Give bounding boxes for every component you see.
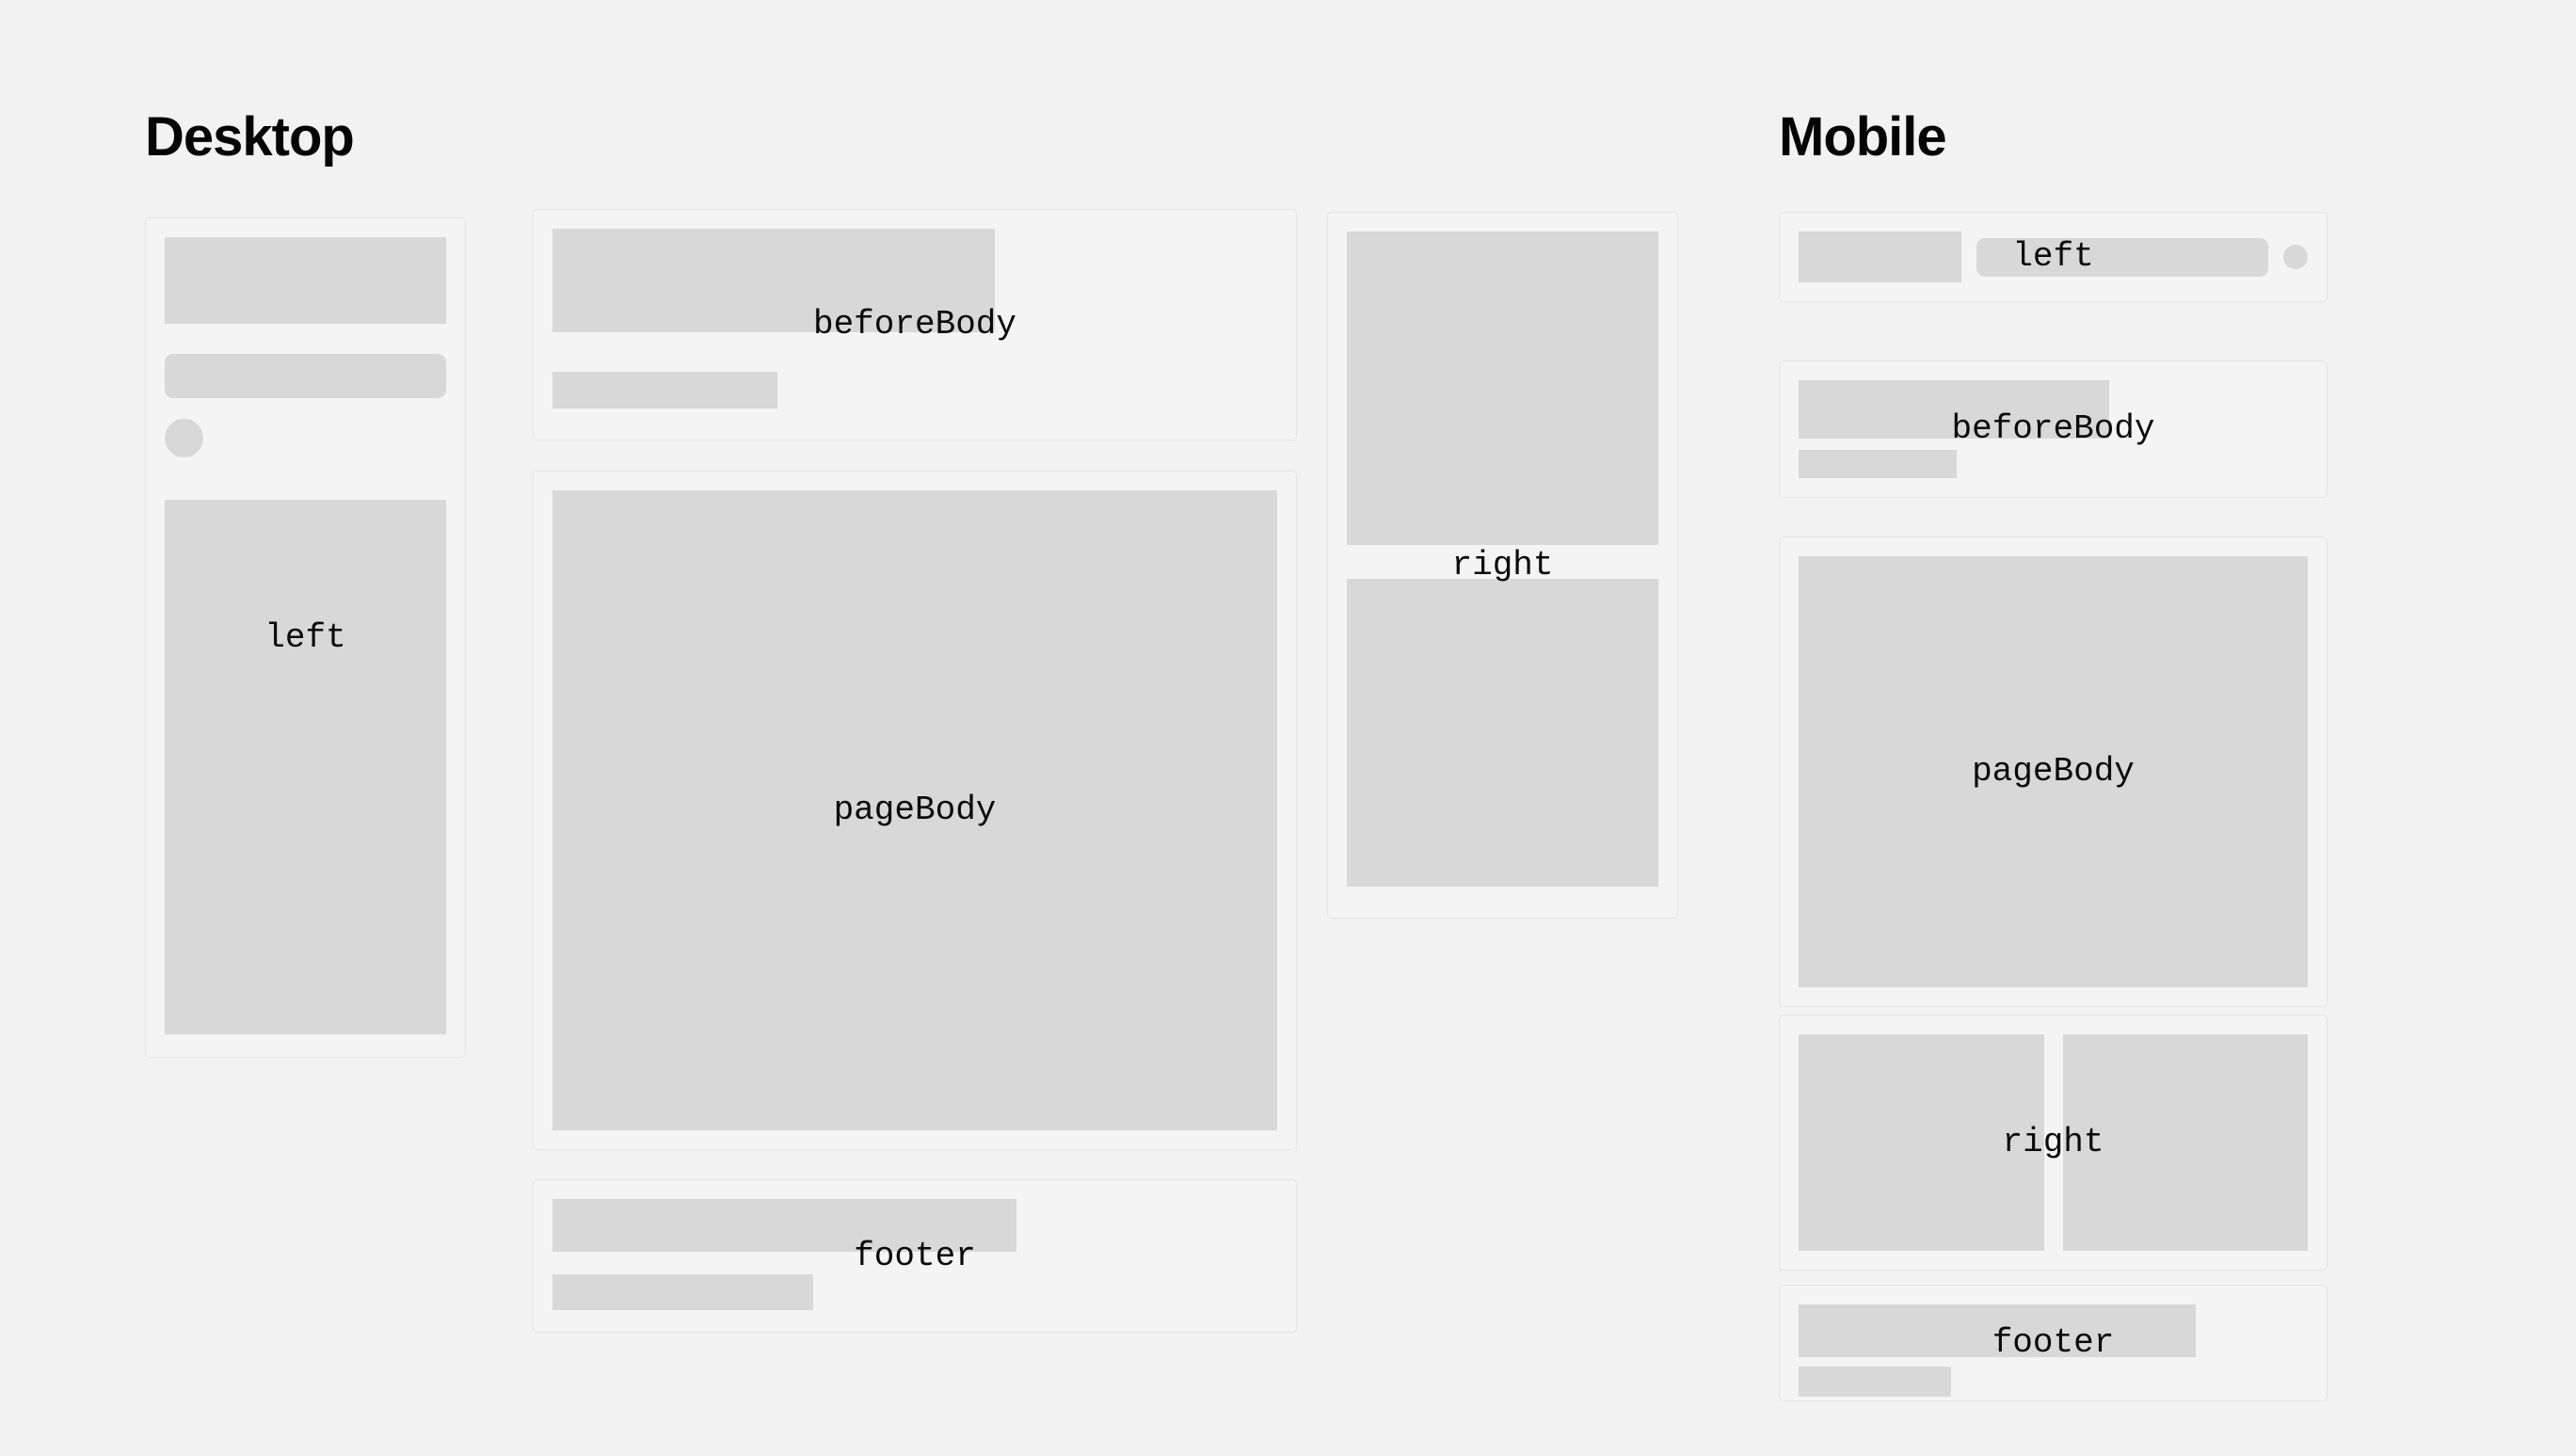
mobile-slot-footer[interactable]: footer: [1779, 1285, 2328, 1401]
mobile-left-header-block: [1799, 232, 1961, 282]
mobile-slot-beforebody[interactable]: beforeBody: [1779, 360, 2328, 498]
desktop-slot-pagebody[interactable]: pageBody: [533, 471, 1297, 1150]
mobile-beforebody-banner-block: [1799, 380, 2109, 439]
desktop-slot-footer[interactable]: footer: [533, 1179, 1297, 1333]
desktop-slot-beforebody[interactable]: beforeBody: [533, 209, 1297, 440]
mobile-slot-pagebody[interactable]: pageBody: [1779, 536, 2328, 1007]
desktop-slot-left[interactable]: left: [145, 217, 466, 1058]
mobile-pagebody-content-block: [1799, 556, 2308, 987]
mobile-section-title: Mobile: [1779, 110, 1946, 165]
desktop-beforebody-subtitle-block: [552, 372, 777, 408]
mobile-slot-right[interactable]: right: [1779, 1015, 2328, 1271]
desktop-section-title: Desktop: [145, 110, 354, 165]
mobile-right-widget-right-block: [2063, 1034, 2309, 1251]
mobile-left-search-block: [1976, 238, 2268, 277]
desktop-right-widget-top-block: [1347, 232, 1658, 545]
mobile-footer-primary-block: [1799, 1304, 2196, 1357]
mobile-left-avatar-block: [2283, 245, 2308, 269]
desktop-slot-right[interactable]: right: [1327, 212, 1678, 919]
desktop-pagebody-content-block: [552, 490, 1277, 1130]
mobile-slot-left[interactable]: left: [1779, 212, 2328, 302]
desktop-left-avatar-block: [165, 419, 203, 457]
desktop-left-nav-panel-block: [165, 500, 446, 1034]
desktop-footer-primary-block: [552, 1199, 1016, 1252]
desktop-left-header-block: [165, 237, 446, 324]
desktop-left-search-block: [165, 354, 446, 398]
mobile-right-row: [1799, 1034, 2308, 1251]
desktop-left-rail-inner: [165, 237, 446, 1038]
mobile-footer-secondary-block: [1799, 1367, 1951, 1397]
mobile-left-row: [1799, 232, 2308, 282]
layout-preview-page: Desktop left beforeBody pageBody right f…: [0, 0, 2576, 1456]
mobile-beforebody-subtitle-block: [1799, 450, 1957, 478]
mobile-right-widget-left-block: [1799, 1034, 2044, 1251]
desktop-beforebody-banner-block: [552, 229, 995, 332]
desktop-right-widget-bottom-block: [1347, 579, 1658, 887]
desktop-footer-secondary-block: [552, 1274, 813, 1310]
